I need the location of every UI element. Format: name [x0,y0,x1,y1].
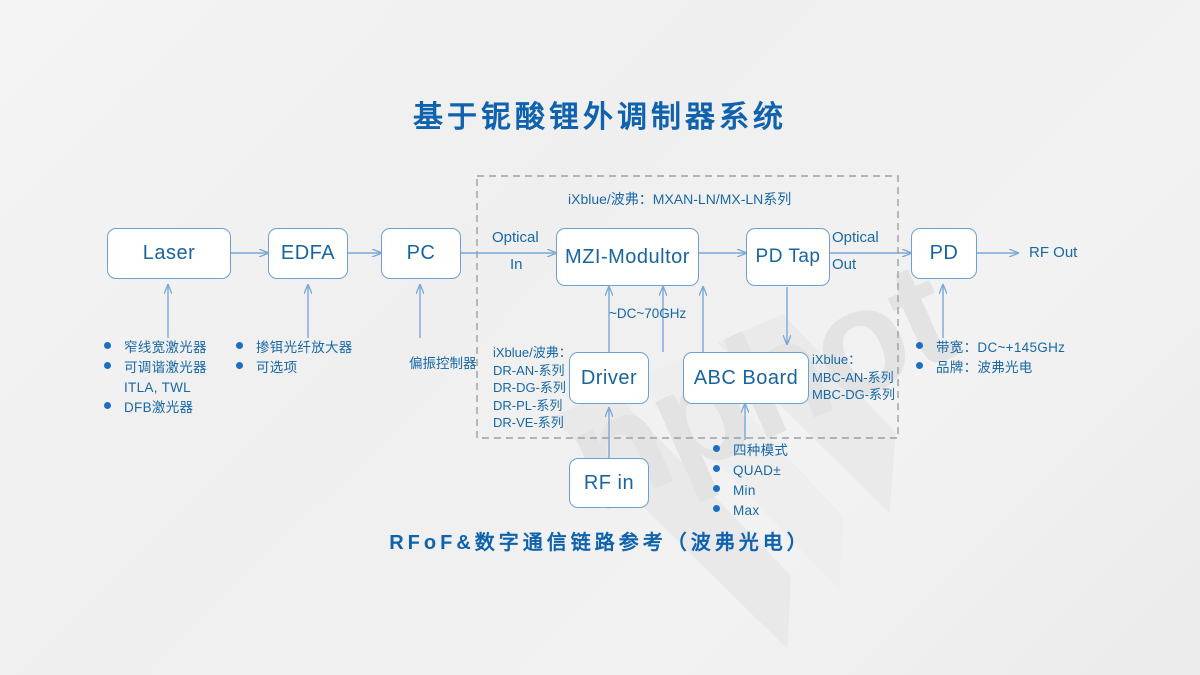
node-abc-board[interactable]: ABC Board [683,352,809,404]
node-rf-in[interactable]: RF in [569,458,649,508]
list-item-label: 可选项 [256,358,297,378]
bullet-dot-icon [236,362,243,369]
driver-series-line: DR-VE-系列 [493,414,572,432]
abc-series-line: MBC-DG-系列 [812,386,895,404]
list-item: 可选项 [236,358,353,378]
list-item-label: 掺铒光纤放大器 [256,338,353,358]
bullet-dot-icon [104,342,111,349]
node-mzi-modulator[interactable]: MZI-Modultor [556,228,699,286]
bullets-laser: 窄线宽激光器 可调谐激光器 ITLA, TWL DFB激光器 [104,338,207,418]
node-pd[interactable]: PD [911,228,977,279]
list-item: 四种模式 [713,441,788,461]
list-item: QUAD± [713,461,788,481]
label-optical-out-line2: Out [832,256,856,274]
list-item: Min [713,481,788,501]
bullets-edfa: 掺铒光纤放大器 可选项 [236,338,353,378]
list-item: 带宽：DC~+145GHz [916,338,1065,358]
list-item-label: 可调谐激光器 [124,358,207,378]
bullet-dot-icon [713,505,720,512]
driver-series-line: DR-AN-系列 [493,362,572,380]
node-edfa[interactable]: EDFA [268,228,348,279]
bullet-dot-icon [916,342,923,349]
list-item: 可调谐激光器 [104,358,207,378]
label-rf-out: RF Out [1029,244,1077,262]
list-item-label: DFB激光器 [124,398,193,418]
label-drive-bandwidth: ~DC~70GHz [609,305,686,323]
bullet-dot-icon [236,342,243,349]
abc-series-line: iXblue： [812,351,895,369]
list-item: ITLA, TWL [104,378,207,398]
node-driver[interactable]: Driver [569,352,649,404]
list-item-label: ITLA, TWL [124,378,191,398]
list-item: Max [713,501,788,521]
figure-caption: RFoF&数字通信链路参考（波弗光电） [0,526,1200,555]
list-item-label: 品牌：波弗光电 [936,358,1033,378]
driver-series-line: DR-DG-系列 [493,379,572,397]
list-item-label: 四种模式 [733,441,788,461]
label-optical-in-line2: In [510,256,523,274]
bullet-dot-icon [104,402,111,409]
diagram-canvas: nphot 基于铌酸锂外调制器系统 [0,0,1200,675]
label-optical-out-line1: Optical [832,229,879,247]
list-item: 掺铒光纤放大器 [236,338,353,358]
list-item-label: QUAD± [733,461,781,481]
driver-series-line: iXblue/波弗： [493,344,572,362]
bullet-dot-icon [713,445,720,452]
node-pd-tap[interactable]: PD Tap [746,228,830,286]
abc-series-list: iXblue： MBC-AN-系列 MBC-DG-系列 [812,351,895,404]
list-item-label: 带宽：DC~+145GHz [936,338,1065,358]
list-item-label: Max [733,501,759,521]
bullets-abc-board: 四种模式 QUAD± Min Max [713,441,788,521]
list-item: 品牌：波弗光电 [916,358,1065,378]
abc-series-line: MBC-AN-系列 [812,369,895,387]
label-pc-description: 偏振控制器 [409,355,477,373]
list-item: DFB激光器 [104,398,207,418]
list-item-label: Min [733,481,756,501]
label-optical-in-line1: Optical [492,229,539,247]
driver-series-line: DR-PL-系列 [493,397,572,415]
page-title: 基于铌酸锂外调制器系统 [0,92,1200,136]
node-pc[interactable]: PC [381,228,461,279]
driver-series-list: iXblue/波弗： DR-AN-系列 DR-DG-系列 DR-PL-系列 DR… [493,344,572,432]
bullet-dot-icon [713,485,720,492]
bullet-dot-icon [104,362,111,369]
node-laser[interactable]: Laser [107,228,231,279]
list-item-label: 窄线宽激光器 [124,338,207,358]
bullet-dot-icon [713,465,720,472]
bullet-spacer [104,385,111,392]
bullets-pd: 带宽：DC~+145GHz 品牌：波弗光电 [916,338,1065,378]
label-modulator-group: iXblue/波弗：MXAN-LN/MX-LN系列 [568,190,791,208]
bullet-dot-icon [916,362,923,369]
list-item: 窄线宽激光器 [104,338,207,358]
